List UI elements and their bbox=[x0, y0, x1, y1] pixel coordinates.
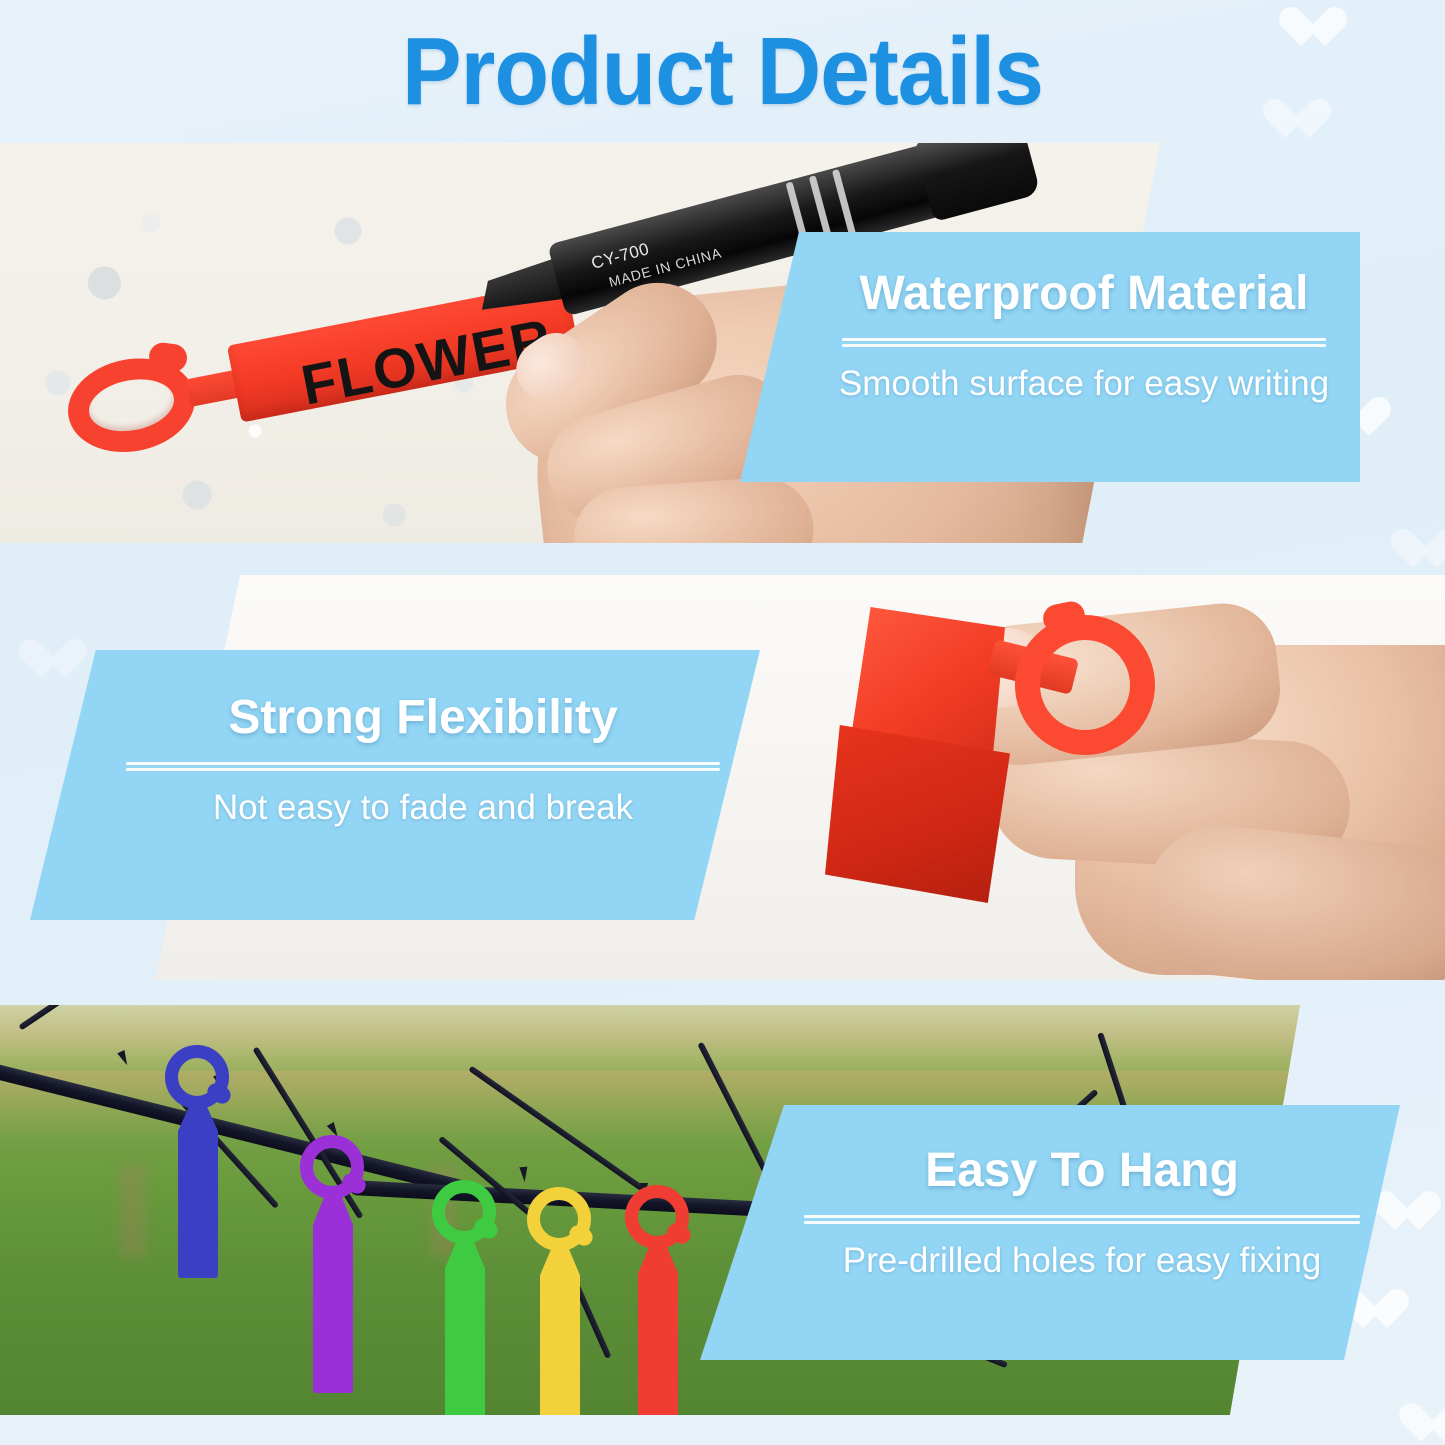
callout-subheading: Smooth surface for easy writing bbox=[836, 365, 1332, 404]
double-divider bbox=[842, 338, 1326, 347]
callout-flexibility: Strong Flexibility Not easy to fade and … bbox=[30, 650, 760, 920]
callout-easy-to-hang: Easy To Hang Pre-drilled holes for easy … bbox=[700, 1105, 1400, 1360]
callout-heading: Waterproof Material bbox=[836, 270, 1332, 318]
callout-heading: Strong Flexibility bbox=[126, 694, 720, 742]
double-divider bbox=[804, 1215, 1360, 1224]
callout-waterproof: Waterproof Material Smooth surface for e… bbox=[740, 232, 1360, 482]
product-details-infographic: Product Details FLOWER CY-700 MADE IN CH… bbox=[0, 0, 1445, 1445]
double-divider bbox=[126, 762, 720, 771]
heart-icon bbox=[1390, 530, 1436, 572]
heart-icon bbox=[18, 640, 64, 682]
bent-red-tag bbox=[815, 597, 1145, 897]
heart-icon bbox=[1398, 1404, 1444, 1445]
callout-subheading: Pre-drilled holes for easy fixing bbox=[804, 1242, 1360, 1281]
callout-heading: Easy To Hang bbox=[804, 1147, 1360, 1195]
callout-subheading: Not easy to fade and break bbox=[126, 789, 720, 828]
page-title: Product Details bbox=[51, 22, 1395, 123]
